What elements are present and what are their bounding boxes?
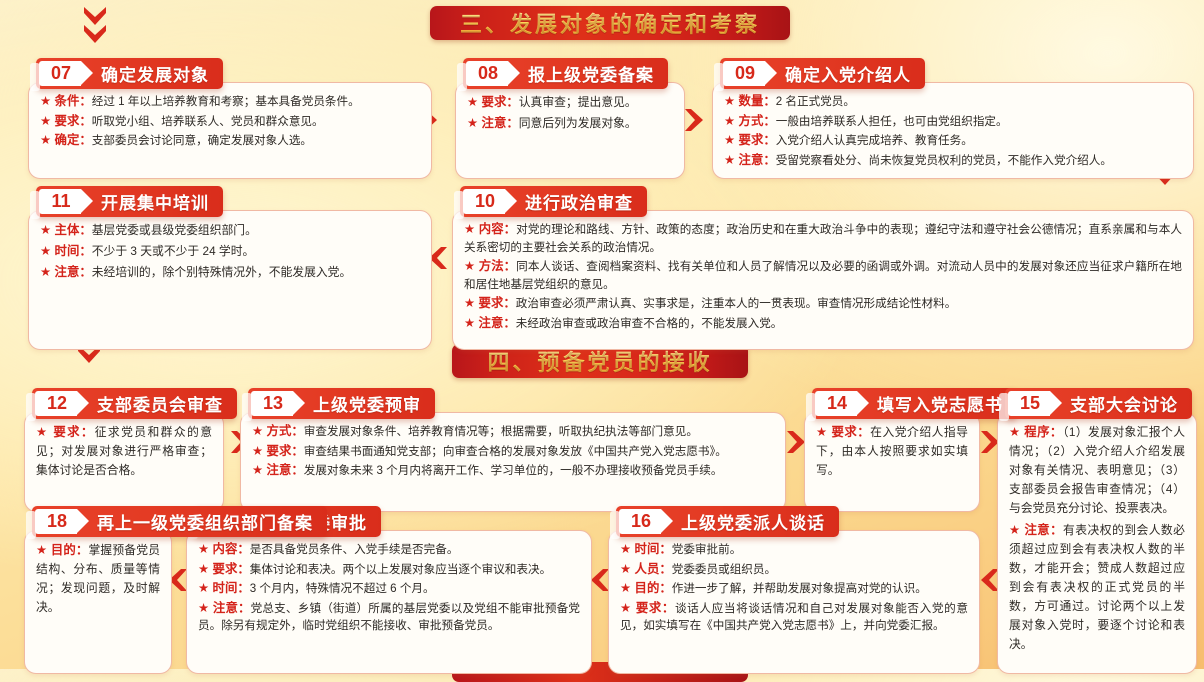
step-detail-row: ★ 要求：谈话人应当将谈话情况和自己对发展对象能否入党的意见，如实填写在《中国共… (620, 599, 968, 635)
step-card-title: 确定发展对象 (101, 61, 209, 86)
step-detail-row: ★ 内容：是否具备党员条件、入党手续是否完备。 (198, 540, 580, 559)
step-detail-label: ★ 人员： (620, 562, 672, 576)
step-detail-label: ★ 时间： (198, 581, 250, 595)
step-card-title: 支部委员会审查 (97, 391, 223, 416)
step-detail-text: 党委委员或组织员。 (672, 563, 776, 576)
step-detail-row: ★ 时间：不少于 3 天或不少于 24 学时。 (40, 241, 420, 261)
step-detail-label: ★ 注意： (198, 601, 251, 615)
step-card-body: ★ 要求：在入党介绍人指导下，由本人按照要求如实填写。 (804, 412, 980, 512)
step-card-header: 18再上一级党委组织部门备案 (32, 506, 327, 537)
step-detail-label: ★ 目的： (36, 543, 88, 557)
step-detail-label: ★ 注意： (1009, 523, 1063, 537)
step-detail-row: ★ 主体：基层党委或县级党委组织部门。 (40, 220, 420, 240)
step-card-content: ★ 时间：党委审批前。★ 人员：党委委员或组织员。★ 目的：作进一步了解，并帮助… (609, 531, 979, 644)
step-number-badge: 11 (39, 189, 81, 214)
step-detail-label: ★ 方式： (724, 114, 776, 128)
step-card-16[interactable]: 16上级党委派人谈话★ 时间：党委审批前。★ 人员：党委委员或组织员。★ 目的：… (608, 506, 980, 674)
step-card-content: ★ 内容：对党的理论和路线、方针、政策的态度；政治历史和在重大政治斗争中的表现；… (453, 211, 1193, 341)
step-detail-text: 未经培训的，除个别特殊情况外，不能发展入党。 (92, 265, 352, 279)
step-detail-row: ★ 要求：征求党员和群众的意见；对发展对象进行严格审查；集体讨论是否合格。 (36, 422, 212, 480)
step-number-badge: 18 (35, 509, 77, 534)
step-detail-label: ★ 要求： (36, 425, 95, 439)
step-card-header: 15支部大会讨论 (1005, 388, 1192, 419)
step-detail-row: ★ 条件：经过 1 年以上培养教育和考察；基本具备党员条件。 (40, 92, 420, 111)
step-detail-label: ★ 主体： (40, 223, 92, 237)
step-card-content: ★ 要求：认真审查；提出意见。★ 注意：同意后列为发展对象。 (456, 83, 684, 142)
step-detail-label: ★ 注意： (252, 463, 304, 477)
step-detail-row: ★ 注意：党总支、乡镇（街道）所属的基层党委以及党组不能审批预备党员。除另有规定… (198, 599, 580, 635)
step-detail-row: ★ 注意：同意后列为发展对象。 (467, 113, 673, 133)
step-detail-row: ★ 要求：政治审查必须严肃认真、实事求是，注重本人的一贯表现。审查情况形成结论性… (464, 294, 1182, 313)
step-card-title: 报上级党委备案 (528, 61, 654, 86)
step-card-header: 14填写入党志愿书 (812, 388, 1017, 419)
step-card-title: 支部大会讨论 (1070, 391, 1178, 416)
step-card-header: 16上级党委派人谈话 (616, 506, 839, 537)
step-card-15[interactable]: 15支部大会讨论★ 程序：（1）发展对象汇报个人情况；（2）入党介绍人介绍发展对… (997, 388, 1197, 674)
step-detail-text: 作进一步了解，并帮助发展对象提高对党的认识。 (672, 582, 927, 595)
step-detail-row: ★ 注意：未经培训的，除个别特殊情况外，不能发展入党。 (40, 262, 420, 282)
step-card-content: ★ 要求：征求党员和群众的意见；对发展对象进行严格审查；集体讨论是否合格。 (25, 413, 223, 489)
step-card-title: 上级党委派人谈话 (681, 509, 825, 534)
step-card-07[interactable]: 07确定发展对象★ 条件：经过 1 年以上培养教育和考察；基本具备党员条件。★ … (28, 58, 432, 179)
step-card-content: ★ 方式：审查发展对象条件、培养教育情况等；根据需要，听取执纪执法等部门意见。★… (241, 413, 785, 489)
step-detail-label: ★ 注意： (724, 153, 776, 167)
step-card-body: ★ 条件：经过 1 年以上培养教育和考察；基本具备党员条件。★ 要求：听取党小组… (28, 82, 432, 179)
step-detail-row: ★ 方式：一般由培养联系人担任，也可由党组织指定。 (724, 112, 1182, 131)
step-detail-row: ★ 目的：作进一步了解，并帮助发展对象提高对党的认识。 (620, 579, 968, 598)
step-number-badge: 08 (466, 61, 508, 86)
step-detail-label: ★ 要求： (816, 425, 870, 439)
step-detail-row: ★ 要求：集体讨论和表决。两个以上发展对象应当逐个审议和表决。 (198, 560, 580, 579)
step-detail-text: 未经政治审查或政治审查不合格的，不能发展入党。 (516, 317, 783, 330)
step-detail-text: 发展对象未来 3 个月内将离开工作、学习单位的，一般不办理接收预备党员手续。 (304, 464, 723, 477)
step-card-18[interactable]: 18再上一级党委组织部门备案★ 目的：掌握预备党员结构、分布、质量等情况；发现问… (24, 506, 172, 674)
step-card-content: ★ 条件：经过 1 年以上培养教育和考察；基本具备党员条件。★ 要求：听取党小组… (29, 83, 431, 159)
step-detail-row: ★ 注意：受留党察看处分、尚未恢复党员权利的党员，不能作入党介绍人。 (724, 151, 1182, 170)
step-card-content: ★ 要求：在入党介绍人指导下，由本人按照要求如实填写。 (805, 413, 979, 489)
step-detail-label: ★ 要求： (467, 95, 519, 109)
step-card-title: 确定入党介绍人 (785, 61, 911, 86)
step-card-11[interactable]: 11开展集中培训★ 主体：基层党委或县级党委组织部门。★ 时间：不少于 3 天或… (28, 186, 432, 350)
step-detail-label: ★ 要求： (464, 296, 516, 310)
step-card-10[interactable]: 10进行政治审查★ 内容：对党的理论和路线、方针、政策的态度；政治历史和在重大政… (452, 186, 1194, 350)
step-detail-text: 有表决权的到会人数必须超过应到会有表决权人数的半数，才能开会；赞成人数超过应到会… (1009, 523, 1185, 652)
step-detail-row: ★ 方式：审查发展对象条件、培养教育情况等；根据需要，听取执纪执法等部门意见。 (252, 422, 774, 441)
step-detail-text: 一般由培养联系人担任，也可由党组织指定。 (776, 115, 1008, 128)
step-detail-label: ★ 注意： (467, 116, 519, 130)
step-number-badge: 10 (463, 189, 505, 214)
step-detail-label: ★ 内容： (198, 542, 250, 556)
step-card-body: ★ 时间：党委审批前。★ 人员：党委委员或组织员。★ 目的：作进一步了解，并帮助… (608, 530, 980, 674)
step-card-header: 09确定入党介绍人 (720, 58, 925, 89)
step-card-body: ★ 内容：是否具备党员条件、入党手续是否完备。★ 要求：集体讨论和表决。两个以上… (186, 530, 592, 674)
step-card-header: 13上级党委预审 (248, 388, 435, 419)
step-card-title: 开展集中培训 (101, 189, 209, 214)
step-detail-text: 入党介绍人认真完成培养、教育任务。 (776, 134, 973, 147)
infographic-canvas: 三、发展对象的确定和考察四、预备党员的接收07确定发展对象★ 条件：经过 1 年… (0, 0, 1204, 669)
step-detail-label: ★ 内容： (464, 222, 516, 236)
step-detail-label: ★ 时间： (620, 542, 672, 556)
step-detail-label: ★ 方式： (252, 424, 304, 438)
step-detail-text: 党总支、乡镇（街道）所属的基层党委以及党组不能审批预备党员。除另有规定外，临时党… (198, 602, 580, 633)
step-detail-text: 支部委员会讨论同意，确定发展对象人选。 (92, 134, 312, 147)
step-detail-row: ★ 时间：3 个月内，特殊情况不超过 6 个月。 (198, 579, 580, 598)
step-detail-label: ★ 程序： (1009, 425, 1063, 439)
step-card-body: ★ 主体：基层党委或县级党委组织部门。★ 时间：不少于 3 天或不少于 24 学… (28, 210, 432, 350)
step-detail-text: 基层党委或县级党委组织部门。 (92, 223, 257, 237)
step-number-badge: 16 (619, 509, 661, 534)
step-card-header: 11开展集中培训 (36, 186, 223, 217)
step-detail-row: ★ 确定：支部委员会讨论同意，确定发展对象人选。 (40, 131, 420, 150)
step-detail-row: ★ 时间：党委审批前。 (620, 540, 968, 559)
step-detail-label: ★ 要求： (40, 114, 92, 128)
step-detail-row: ★ 要求：在入党介绍人指导下，由本人按照要求如实填写。 (816, 422, 968, 480)
step-detail-label: ★ 要求： (620, 601, 675, 615)
step-detail-text: 集体讨论和表决。两个以上发展对象应当逐个审议和表决。 (250, 563, 551, 576)
step-number-badge: 14 (815, 391, 857, 416)
step-detail-text: 2 名正式党员。 (776, 95, 855, 108)
step-card-header: 10进行政治审查 (460, 186, 647, 217)
step-detail-label: ★ 数量： (724, 94, 776, 108)
step-detail-row: ★ 注意：未经政治审查或政治审查不合格的，不能发展入党。 (464, 314, 1182, 333)
step-card-body: ★ 数量：2 名正式党员。★ 方式：一般由培养联系人担任，也可由党组织指定。★ … (712, 82, 1194, 179)
step-detail-row: ★ 程序：（1）发展对象汇报个人情况；（2）入党介绍人介绍发展对象有关情况、表明… (1009, 422, 1185, 519)
step-card-body: ★ 要求：认真审查；提出意见。★ 注意：同意后列为发展对象。 (455, 82, 685, 179)
step-detail-row: ★ 方法：同本人谈话、查阅档案资料、找有关单位和人员了解情况以及必要的函调或外调… (464, 257, 1182, 293)
step-card-content: ★ 数量：2 名正式党员。★ 方式：一般由培养联系人担任，也可由党组织指定。★ … (713, 83, 1193, 178)
step-detail-text: 听取党小组、培养联系人、党员和群众意见。 (92, 115, 324, 128)
step-detail-text: 同意后列为发展对象。 (519, 116, 637, 130)
step-detail-label: ★ 要求： (252, 444, 304, 458)
step-detail-text: 不少于 3 天或不少于 24 学时。 (92, 244, 255, 258)
step-detail-row: ★ 要求：听取党小组、培养联系人、党员和群众意见。 (40, 112, 420, 131)
step-detail-row: ★ 数量：2 名正式党员。 (724, 92, 1182, 111)
step-detail-text: 3 个月内，特殊情况不超过 6 个月。 (250, 582, 435, 595)
step-card-body: ★ 程序：（1）发展对象汇报个人情况；（2）入党介绍人介绍发展对象有关情况、表明… (997, 412, 1197, 674)
step-card-14[interactable]: 14填写入党志愿书★ 要求：在入党介绍人指导下，由本人按照要求如实填写。 (804, 388, 980, 512)
step-detail-label: ★ 注意： (464, 316, 516, 330)
step-card-title: 填写入党志愿书 (877, 391, 1003, 416)
step-detail-text: 受留党察看处分、尚未恢复党员权利的党员，不能作入党介绍人。 (776, 154, 1112, 167)
step-card-13[interactable]: 13上级党委预审★ 方式：审查发展对象条件、培养教育情况等；根据需要，听取执纪执… (240, 388, 786, 512)
step-number-badge: 13 (251, 391, 293, 416)
step-card-header: 12支部委员会审查 (32, 388, 237, 419)
step-detail-label: ★ 方法： (464, 259, 516, 273)
step-detail-label: ★ 要求： (724, 133, 776, 147)
step-card-body: ★ 方式：审查发展对象条件、培养教育情况等；根据需要，听取执纪执法等部门意见。★… (240, 412, 786, 512)
step-detail-label: ★ 目的： (620, 581, 672, 595)
step-detail-label: ★ 时间： (40, 244, 92, 258)
step-card-09[interactable]: 09确定入党介绍人★ 数量：2 名正式党员。★ 方式：一般由培养联系人担任，也可… (712, 58, 1194, 179)
step-detail-text: 党委审批前。 (672, 543, 742, 556)
step-detail-text: 认真审查；提出意见。 (519, 95, 637, 109)
section-banner-title: 三、发展对象的确定和考察 (460, 7, 760, 39)
step-number-badge: 15 (1008, 391, 1050, 416)
step-detail-text: 政治审查必须严肃认真、实事求是，注重本人的一贯表现。审查情况形成结论性材料。 (516, 297, 957, 310)
step-detail-label: ★ 要求： (198, 562, 250, 576)
step-detail-row: ★ 目的：掌握预备党员结构、分布、质量等情况；发现问题，及时解决。 (36, 540, 160, 617)
step-number-badge: 07 (39, 61, 81, 86)
step-detail-text: 同本人谈话、查阅档案资料、找有关单位和人员了解情况以及必要的函调或外调。对流动人… (464, 260, 1182, 291)
section-banner-section-3: 三、发展对象的确定和考察 (430, 6, 790, 40)
step-detail-label: ★ 条件： (40, 94, 92, 108)
step-detail-row: ★ 内容：对党的理论和路线、方针、政策的态度；政治历史和在重大政治斗争中的表现；… (464, 220, 1182, 256)
step-card-body: ★ 目的：掌握预备党员结构、分布、质量等情况；发现问题，及时解决。 (24, 530, 172, 674)
step-card-content: ★ 程序：（1）发展对象汇报个人情况；（2）入党介绍人介绍发展对象有关情况、表明… (998, 413, 1196, 663)
step-detail-row: ★ 要求：入党介绍人认真完成培养、教育任务。 (724, 131, 1182, 150)
step-detail-label: ★ 确定： (40, 133, 92, 147)
step-card-12[interactable]: 12支部委员会审查★ 要求：征求党员和群众的意见；对发展对象进行严格审查；集体讨… (24, 388, 224, 512)
step-card-08[interactable]: 08报上级党委备案★ 要求：认真审查；提出意见。★ 注意：同意后列为发展对象。 (455, 58, 685, 179)
step-detail-text: 经过 1 年以上培养教育和考察；基本具备党员条件。 (92, 95, 360, 108)
step-detail-row: ★ 要求：认真审查；提出意见。 (467, 92, 673, 112)
step-card-title: 再上一级党委组织部门备案 (97, 509, 313, 534)
step-detail-row: ★ 注意：发展对象未来 3 个月内将离开工作、学习单位的，一般不办理接收预备党员… (252, 461, 774, 480)
step-card-title: 进行政治审查 (525, 189, 633, 214)
step-card-content: ★ 主体：基层党委或县级党委组织部门。★ 时间：不少于 3 天或不少于 24 学… (29, 211, 431, 291)
step-detail-text: 是否具备党员条件、入党手续是否完备。 (250, 543, 459, 556)
step-card-body: ★ 要求：征求党员和群众的意见；对发展对象进行严格审查；集体讨论是否合格。 (24, 412, 224, 512)
step-number-badge: 09 (723, 61, 765, 86)
step-card-title: 上级党委预审 (313, 391, 421, 416)
step-detail-row: ★ 人员：党委委员或组织员。 (620, 560, 968, 579)
step-card-body: ★ 内容：对党的理论和路线、方针、政策的态度；政治历史和在重大政治斗争中的表现；… (452, 210, 1194, 350)
step-detail-row: ★ 注意：有表决权的到会人数必须超过应到会有表决权人数的半数，才能开会；赞成人数… (1009, 520, 1185, 655)
step-card-header: 08报上级党委备案 (463, 58, 668, 89)
step-card-content: ★ 内容：是否具备党员条件、入党手续是否完备。★ 要求：集体讨论和表决。两个以上… (187, 531, 591, 644)
step-detail-text: 对党的理论和路线、方针、政策的态度；政治历史和在重大政治斗争中的表现；遵纪守法和… (464, 223, 1182, 254)
step-card-content: ★ 目的：掌握预备党员结构、分布、质量等情况；发现问题，及时解决。 (25, 531, 171, 626)
step-detail-label: ★ 注意： (40, 265, 92, 279)
step-detail-text: 审查结果书面通知党支部；向审查合格的发展对象发放《中国共产党入党志愿书》。 (304, 445, 727, 458)
step-card-header: 07确定发展对象 (36, 58, 223, 89)
step-detail-text: 审查发展对象条件、培养教育情况等；根据需要，听取执纪执法等部门意见。 (304, 425, 698, 438)
step-detail-row: ★ 要求：审查结果书面通知党支部；向审查合格的发展对象发放《中国共产党入党志愿书… (252, 442, 774, 461)
step-number-badge: 12 (35, 391, 77, 416)
